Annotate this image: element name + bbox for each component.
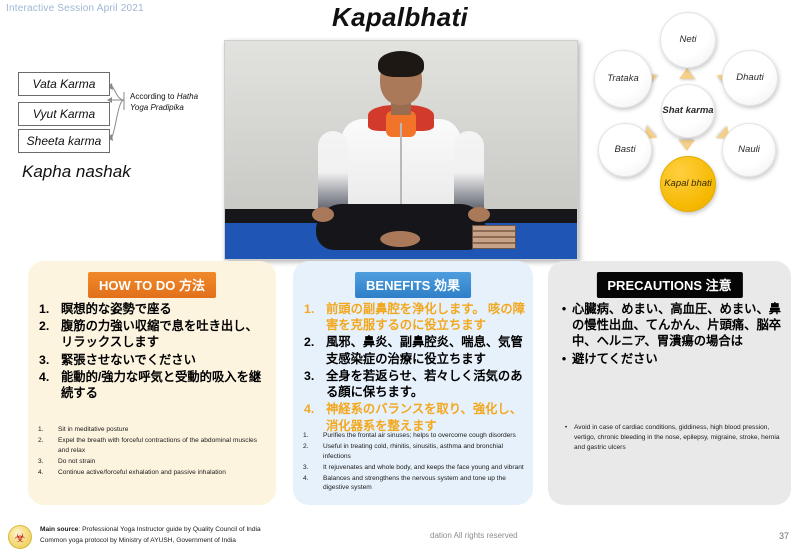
- precautions-japanese-list: •心臓病、めまい、高血圧、めまい、鼻の慢性出血、てんかん、片頭痛、脳卒中、ヘルニ…: [556, 301, 783, 368]
- panel-title-precautions: PRECAUTIONS 注意: [596, 272, 742, 298]
- list-item: 1.Purifies the frontal air sinuses; help…: [303, 431, 525, 441]
- diagram-node-center: Shat karma: [661, 84, 715, 138]
- list-item: 4.能動的/強力な呼気と受動的吸入を継続する: [36, 369, 270, 401]
- howto-english-list: 1.Sit in meditative posture2.Expel the b…: [38, 425, 268, 478]
- list-item-marker: •: [558, 423, 574, 453]
- footer-source-line2: Common yoga protocol by Ministry of AYUS…: [40, 537, 236, 544]
- list-item: 3.Do not strain: [38, 457, 268, 467]
- panel-precautions: PRECAUTIONS 注意 •心臓病、めまい、高血圧、めまい、鼻の慢性出血、て…: [548, 261, 791, 505]
- list-item-text: Continue active/forceful exhalation and …: [58, 468, 268, 478]
- list-item: 1.Sit in meditative posture: [38, 425, 268, 435]
- page-title: Kapalbhati: [224, 2, 576, 33]
- page-number: 37: [779, 531, 789, 541]
- benefits-japanese-list: 1.前頭の副鼻腔を浄化します。 咳の障害を克服するのに役立ちます2.風邪、鼻炎、…: [301, 301, 527, 435]
- list-item-text: Balances and strengthens the nervous sys…: [323, 474, 525, 494]
- footer-source-text: Main source: Professional Yoga Instructo…: [40, 525, 261, 546]
- list-item: 4.Balances and strengthens the nervous s…: [303, 474, 525, 494]
- diagram-node-basti[interactable]: Basti: [598, 123, 652, 177]
- karma-source-note: According to Hatha Yoga Pradipika: [130, 92, 216, 114]
- list-item-marker: 1.: [36, 301, 61, 317]
- list-item-text: 瞑想的な姿勢で座る: [61, 301, 270, 317]
- diagram-node-kapalbhati[interactable]: Kapal bhati: [660, 156, 716, 212]
- diagram-node-neti[interactable]: Neti: [660, 12, 716, 68]
- list-item-text: Avoid in case of cardiac conditions, gid…: [574, 423, 783, 453]
- panel-benefits: BENEFITS 効果 1.前頭の副鼻腔を浄化します。 咳の障害を克服するのに役…: [293, 261, 533, 505]
- list-item-text: 全身を若返らせ、若々しく活気のある顔に保ちます。: [326, 368, 527, 400]
- karma-box-vata: Vata Karma: [18, 72, 110, 96]
- panel-title-how-to-do: HOW TO DO 方法: [88, 272, 216, 298]
- list-item-text: 心臓病、めまい、高血圧、めまい、鼻の慢性出血、てんかん、片頭痛、脳卒中、ヘルニア…: [572, 301, 783, 350]
- karma-box-vyut: Vyut Karma: [18, 102, 110, 126]
- list-item: 2.Useful in treating cold, rhinitis, sin…: [303, 442, 525, 462]
- list-item-text: 神経系のバランスを取り、強化し、消化器系を整えます: [326, 401, 527, 433]
- organization-logo-icon: ☣: [8, 525, 32, 549]
- list-item-marker: 4.: [38, 468, 58, 478]
- list-item-text: Expel the breath with forceful contracti…: [58, 436, 268, 456]
- list-item-text: 風邪、鼻炎、副鼻腔炎、喘息、気管支感染症の治療に役立ちます: [326, 334, 527, 366]
- footer-source-label: Main source: [40, 526, 78, 533]
- list-item-text: 前頭の副鼻腔を浄化します。 咳の障害を克服するのに役立ちます: [326, 301, 527, 333]
- list-item-marker: 2.: [36, 318, 61, 350]
- howto-japanese-list: 1.瞑想的な姿勢で座る2.腹筋の力強い収縮で息を吐き出し、リラックスします3.緊…: [36, 301, 270, 402]
- list-item: 4.Continue active/forceful exhalation an…: [38, 468, 268, 478]
- panel-how-to-do: HOW TO DO 方法 1.瞑想的な姿勢で座る2.腹筋の力強い収縮で息を吐き出…: [28, 261, 276, 505]
- list-item-text: Do not strain: [58, 457, 268, 467]
- footer-rights-text: dation All rights reserved: [430, 531, 518, 540]
- list-item-text: 能動的/強力な呼気と受動的吸入を継続する: [61, 369, 270, 401]
- kapha-nashak-caption: Kapha nashak: [22, 162, 131, 182]
- list-item: 4.神経系のバランスを取り、強化し、消化器系を整えます: [301, 401, 527, 433]
- list-item-marker: 4.: [303, 474, 323, 494]
- list-item-marker: 2.: [301, 334, 326, 366]
- kapalbhati-photo: [224, 40, 578, 260]
- list-item-marker: 3.: [301, 368, 326, 400]
- list-item: 3.全身を若返らせ、若々しく活気のある顔に保ちます。: [301, 368, 527, 400]
- list-item-marker: 1.: [303, 431, 323, 441]
- list-item-marker: 1.: [301, 301, 326, 333]
- list-item-text: 避けてください: [572, 351, 783, 367]
- list-item-text: Purifies the frontal air sinuses; helps …: [323, 431, 525, 441]
- list-item-text: Sit in meditative posture: [58, 425, 268, 435]
- precautions-english-list: •Avoid in case of cardiac conditions, gi…: [558, 423, 783, 454]
- list-item: 1.瞑想的な姿勢で座る: [36, 301, 270, 317]
- list-item-marker: 1.: [38, 425, 58, 435]
- photo-books: [472, 225, 516, 249]
- list-item: •心臓病、めまい、高血圧、めまい、鼻の慢性出血、てんかん、片頭痛、脳卒中、ヘルニ…: [556, 301, 783, 350]
- photo-person: [276, 49, 526, 259]
- list-item-marker: 2.: [303, 442, 323, 462]
- diagram-node-trataka[interactable]: Trataka: [594, 50, 652, 108]
- panel-title-benefits: BENEFITS 効果: [355, 272, 471, 298]
- benefits-english-list: 1.Purifies the frontal air sinuses; help…: [303, 431, 525, 494]
- footer-source-line1: : Professional Yoga Instructor guide by …: [78, 526, 260, 533]
- list-item-marker: 4.: [36, 369, 61, 401]
- karma-box-sheeta: Sheeta karma: [18, 129, 110, 153]
- list-item: 2.風邪、鼻炎、副鼻腔炎、喘息、気管支感染症の治療に役立ちます: [301, 334, 527, 366]
- list-item-text: It rejuvenates and whole body, and keeps…: [323, 463, 525, 473]
- list-item-marker: •: [556, 301, 572, 350]
- arrow-up-icon: [679, 68, 695, 79]
- list-item: •Avoid in case of cardiac conditions, gi…: [558, 423, 783, 453]
- diagram-node-nauli[interactable]: Nauli: [722, 123, 776, 177]
- list-item-marker: 3.: [303, 463, 323, 473]
- list-item-text: Useful in treating cold, rhinitis, sinus…: [323, 442, 525, 462]
- list-item: 2.Expel the breath with forceful contrac…: [38, 436, 268, 456]
- diagram-node-dhauti[interactable]: Dhauti: [722, 50, 778, 106]
- list-item-marker: 3.: [38, 457, 58, 467]
- list-item: 2.腹筋の力強い収縮で息を吐き出し、リラックスします: [36, 318, 270, 350]
- shatkarma-diagram: Neti Dhauti Nauli Kapal bhati Basti Trat…: [578, 6, 796, 214]
- list-item: •避けてください: [556, 351, 783, 367]
- list-item-text: 腹筋の力強い収縮で息を吐き出し、リラックスします: [61, 318, 270, 350]
- list-item: 1.前頭の副鼻腔を浄化します。 咳の障害を克服するのに役立ちます: [301, 301, 527, 333]
- list-item-marker: 3.: [36, 352, 61, 368]
- arrow-down-icon: [679, 140, 695, 151]
- list-item: 3.It rejuvenates and whole body, and kee…: [303, 463, 525, 473]
- list-item-marker: 4.: [301, 401, 326, 433]
- session-label: Interactive Session April 2021: [6, 3, 144, 14]
- list-item-text: 緊張させないでください: [61, 352, 270, 368]
- karma-note-prefix: According to: [130, 92, 177, 101]
- list-item-marker: 2.: [38, 436, 58, 456]
- list-item-marker: •: [556, 351, 572, 367]
- list-item: 3.緊張させないでください: [36, 352, 270, 368]
